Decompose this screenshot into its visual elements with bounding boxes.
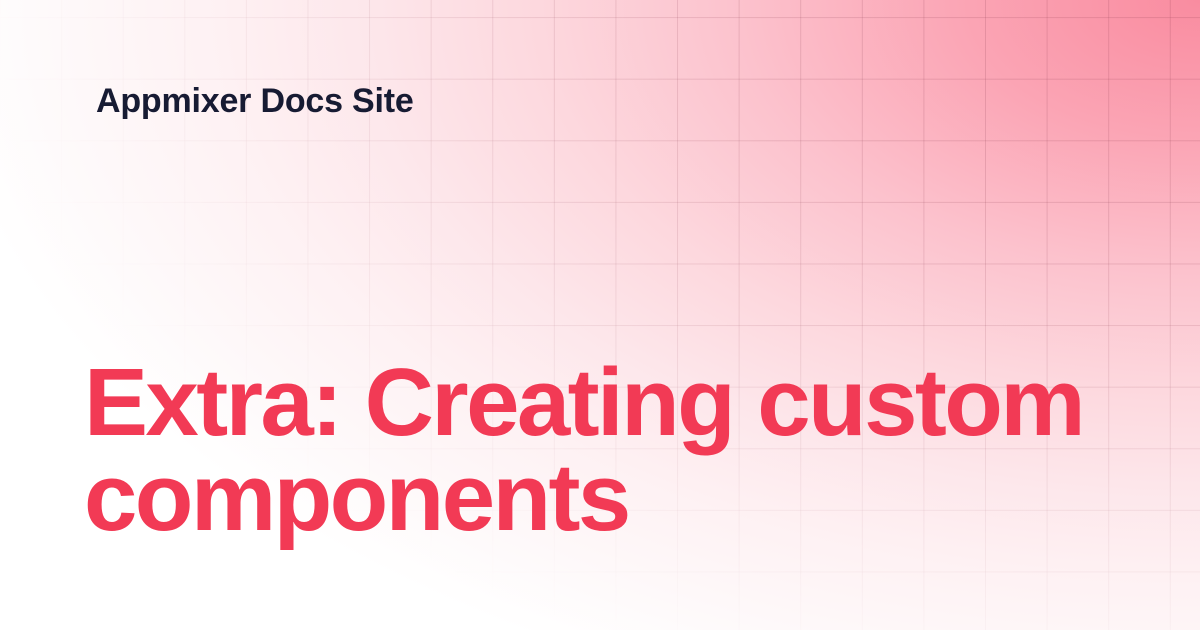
page-title: Extra: Creating custom components [84,355,1124,545]
card-content: Appmixer Docs Site Extra: Creating custo… [0,0,1200,630]
og-social-card: Appmixer Docs Site Extra: Creating custo… [0,0,1200,630]
site-name: Appmixer Docs Site [96,80,414,122]
